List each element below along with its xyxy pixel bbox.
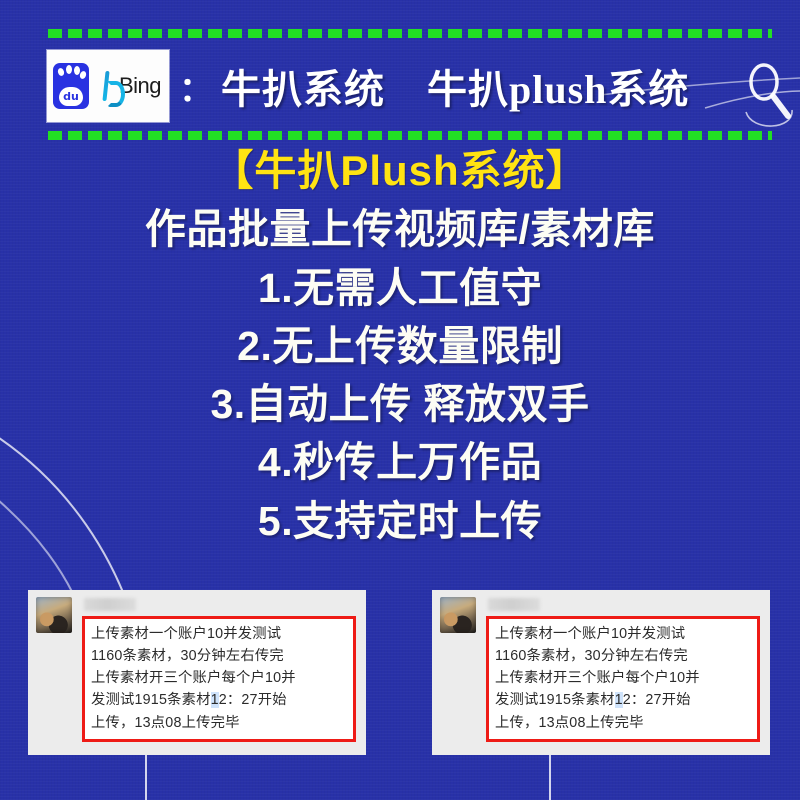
divider-middle bbox=[48, 131, 772, 140]
avatar bbox=[440, 597, 476, 633]
baidu-logo: du bbox=[53, 63, 89, 109]
feature-list-item: 3.自动上传 释放双手 bbox=[0, 375, 800, 433]
bing-wordmark: Bing bbox=[119, 75, 161, 97]
chat-message-line: 发测试1915条素材12：27开始 bbox=[91, 689, 347, 711]
chat-username-masked bbox=[84, 598, 136, 611]
chat-message-line: 1160条素材，30分钟左右传完 bbox=[91, 645, 347, 667]
chat-message-line: 上传素材开三个账户每个户10并 bbox=[91, 667, 347, 689]
header-colon: ： bbox=[179, 62, 213, 111]
chat-message-line: 上传素材一个账户10并发测试 bbox=[495, 623, 751, 645]
decor-stem-left bbox=[145, 755, 147, 800]
header: du Bing ： 牛扒系统 牛扒plush系统 bbox=[0, 48, 800, 124]
bing-logo: Bing bbox=[103, 71, 161, 101]
chat-message-line: 发测试1915条素材12：27开始 bbox=[495, 689, 751, 711]
chat-message-bubble: 上传素材一个账户10并发测试 1160条素材，30分钟左右传完 上传素材开三个账… bbox=[486, 616, 760, 742]
feature-block: 【牛扒Plush系统】 作品批量上传视频库/素材库 1.无需人工值守 2.无上传… bbox=[0, 146, 800, 550]
logo-plate: du Bing bbox=[47, 50, 169, 122]
feature-bracket-title: 【牛扒Plush系统】 bbox=[0, 146, 800, 196]
chat-message-line: 上传，13点08上传完毕 bbox=[91, 712, 347, 734]
chat-message-bubble: 上传素材一个账户10并发测试 1160条素材，30分钟左右传完 上传素材开三个账… bbox=[82, 616, 356, 742]
chat-body: 上传素材一个账户10并发测试 1160条素材，30分钟左右传完 上传素材开三个账… bbox=[82, 597, 366, 742]
avatar bbox=[36, 597, 72, 633]
feature-headline: 作品批量上传视频库/素材库 bbox=[0, 204, 800, 255]
chat-message-line: 上传素材开三个账户每个户10并 bbox=[495, 667, 751, 689]
feature-list-item: 4.秒传上万作品 bbox=[0, 433, 800, 491]
chat-username-masked bbox=[488, 598, 540, 611]
page-title-secondary: 牛扒plush系统 bbox=[427, 57, 689, 115]
chat-body: 上传素材一个账户10并发测试 1160条素材，30分钟左右传完 上传素材开三个账… bbox=[486, 597, 770, 742]
page-title-primary: 牛扒系统 bbox=[221, 57, 385, 115]
divider-top bbox=[48, 29, 772, 38]
feature-list: 1.无需人工值守 2.无上传数量限制 3.自动上传 释放双手 4.秒传上万作品 … bbox=[0, 259, 800, 550]
feature-list-item: 1.无需人工值守 bbox=[0, 259, 800, 317]
chat-screenshot-left: 上传素材一个账户10并发测试 1160条素材，30分钟左右传完 上传素材开三个账… bbox=[28, 590, 366, 755]
feature-list-item: 2.无上传数量限制 bbox=[0, 317, 800, 375]
feature-list-item: 5.支持定时上传 bbox=[0, 492, 800, 550]
bing-swoosh-icon bbox=[103, 71, 117, 101]
chat-row: 上传素材一个账户10并发测试 1160条素材，30分钟左右传完 上传素材开三个账… bbox=[432, 590, 770, 742]
chat-message-line: 1160条素材，30分钟左右传完 bbox=[495, 645, 751, 667]
chat-row: 上传素材一个账户10并发测试 1160条素材，30分钟左右传完 上传素材开三个账… bbox=[28, 590, 366, 742]
chat-screenshot-right: 上传素材一个账户10并发测试 1160条素材，30分钟左右传完 上传素材开三个账… bbox=[432, 590, 770, 755]
baidu-wordmark: du bbox=[59, 87, 83, 106]
decor-stem-right bbox=[549, 755, 551, 800]
chat-message-line: 上传，13点08上传完毕 bbox=[495, 712, 751, 734]
chat-message-line: 上传素材一个账户10并发测试 bbox=[91, 623, 347, 645]
